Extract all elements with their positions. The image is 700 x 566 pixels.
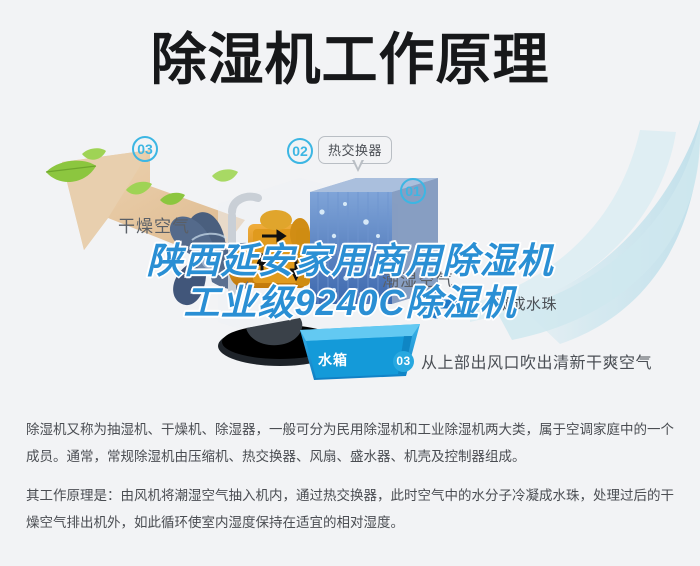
- callout-tail: [352, 160, 364, 172]
- page-title: 除湿机工作原理: [151, 32, 550, 88]
- body-copy: 除湿机又称为抽湿机、干燥机、除湿器，一般可分为民用除湿机和工业除湿机两大类，属于…: [26, 416, 680, 536]
- label-dry-air: 干燥空气: [118, 212, 190, 237]
- label-condense-to-droplets: 凝成水珠: [495, 293, 557, 314]
- step-badge-01: 01: [400, 178, 426, 204]
- working-principle-diagram: 03 干燥空气 02 热交换器 01 潮湿空气 水箱 凝成水珠 03 从上部出风…: [0, 108, 700, 408]
- step-03-bottom-text: 从上部出风口吹出清新干爽空气: [421, 349, 652, 373]
- leaf-icon-5: [212, 169, 238, 181]
- dehumidifier-infographic-page: 除湿机工作原理: [0, 0, 700, 566]
- label-humid-air: 潮湿空气: [382, 266, 454, 291]
- body-paragraph-2: 其工作原理是：由风机将潮湿空气抽入机内，通过热交换器，此时空气中的水分子冷凝成水…: [26, 482, 680, 536]
- step-badge-03-top: 03: [132, 136, 158, 162]
- step-badge-02: 02: [287, 138, 313, 164]
- step-badge-03-bottom: 03: [393, 351, 414, 372]
- body-paragraph-1: 除湿机又称为抽湿机、干燥机、除湿器，一般可分为民用除湿机和工业除湿机两大类，属于…: [26, 416, 680, 470]
- step-03-bottom-row: 03 从上部出风口吹出清新干爽空气: [393, 349, 652, 373]
- inlet-arrow-icon: [414, 294, 466, 314]
- page-title-band: 除湿机工作原理: [0, 18, 700, 102]
- label-water-tank: 水箱: [318, 350, 348, 370]
